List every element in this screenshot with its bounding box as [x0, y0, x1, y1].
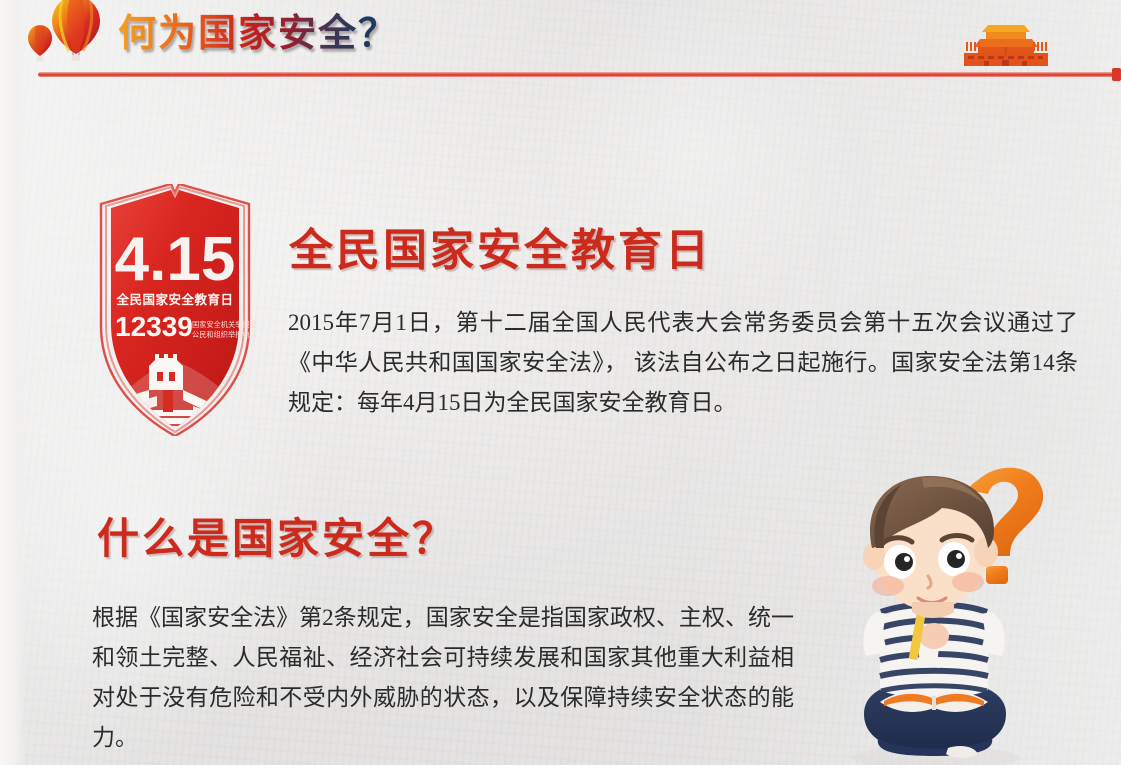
section-heading-what-is-national-security: 什么是国家安全？: [97, 505, 457, 566]
emblem-caption: 全民国家安全教育日: [115, 292, 233, 307]
left-margin-strip: [0, 0, 26, 765]
emblem-date: 4.15: [115, 225, 236, 294]
emblem-hotline: 12339: [115, 311, 193, 342]
tiananmen-gate-icon: [958, 22, 1054, 68]
section-heading-national-security-education-day: 全民国家安全教育日: [289, 214, 712, 278]
page-header: 何为国家安全？: [0, 0, 1121, 86]
header-divider: [38, 72, 1116, 77]
thinking-boy-illustration: [818, 452, 1120, 765]
section-paragraph-national-security-education-day: 2015年7月1日，第十二届全国人民代表大会常务委员会第十五次会议通过了《中华人…: [288, 303, 1078, 423]
emblem-hotline-note-2: 公民和组织举报电话: [192, 330, 257, 339]
hot-air-balloon-icon: [26, 0, 110, 72]
national-security-day-emblem: 4.15 全民国家安全教育日 12339 国家安全机关举报受理 公民和组织举报电…: [93, 184, 257, 436]
header-divider-endpoint: [1112, 68, 1121, 81]
section-paragraph-what-is-national-security: 根据《国家安全法》第2条规定，国家安全是指国家政权、主权、统一和领土完整、人民福…: [92, 598, 794, 758]
emblem-hotline-note-1: 国家安全机关举报受理: [192, 320, 257, 329]
page-title: 何为国家安全？: [118, 8, 398, 60]
